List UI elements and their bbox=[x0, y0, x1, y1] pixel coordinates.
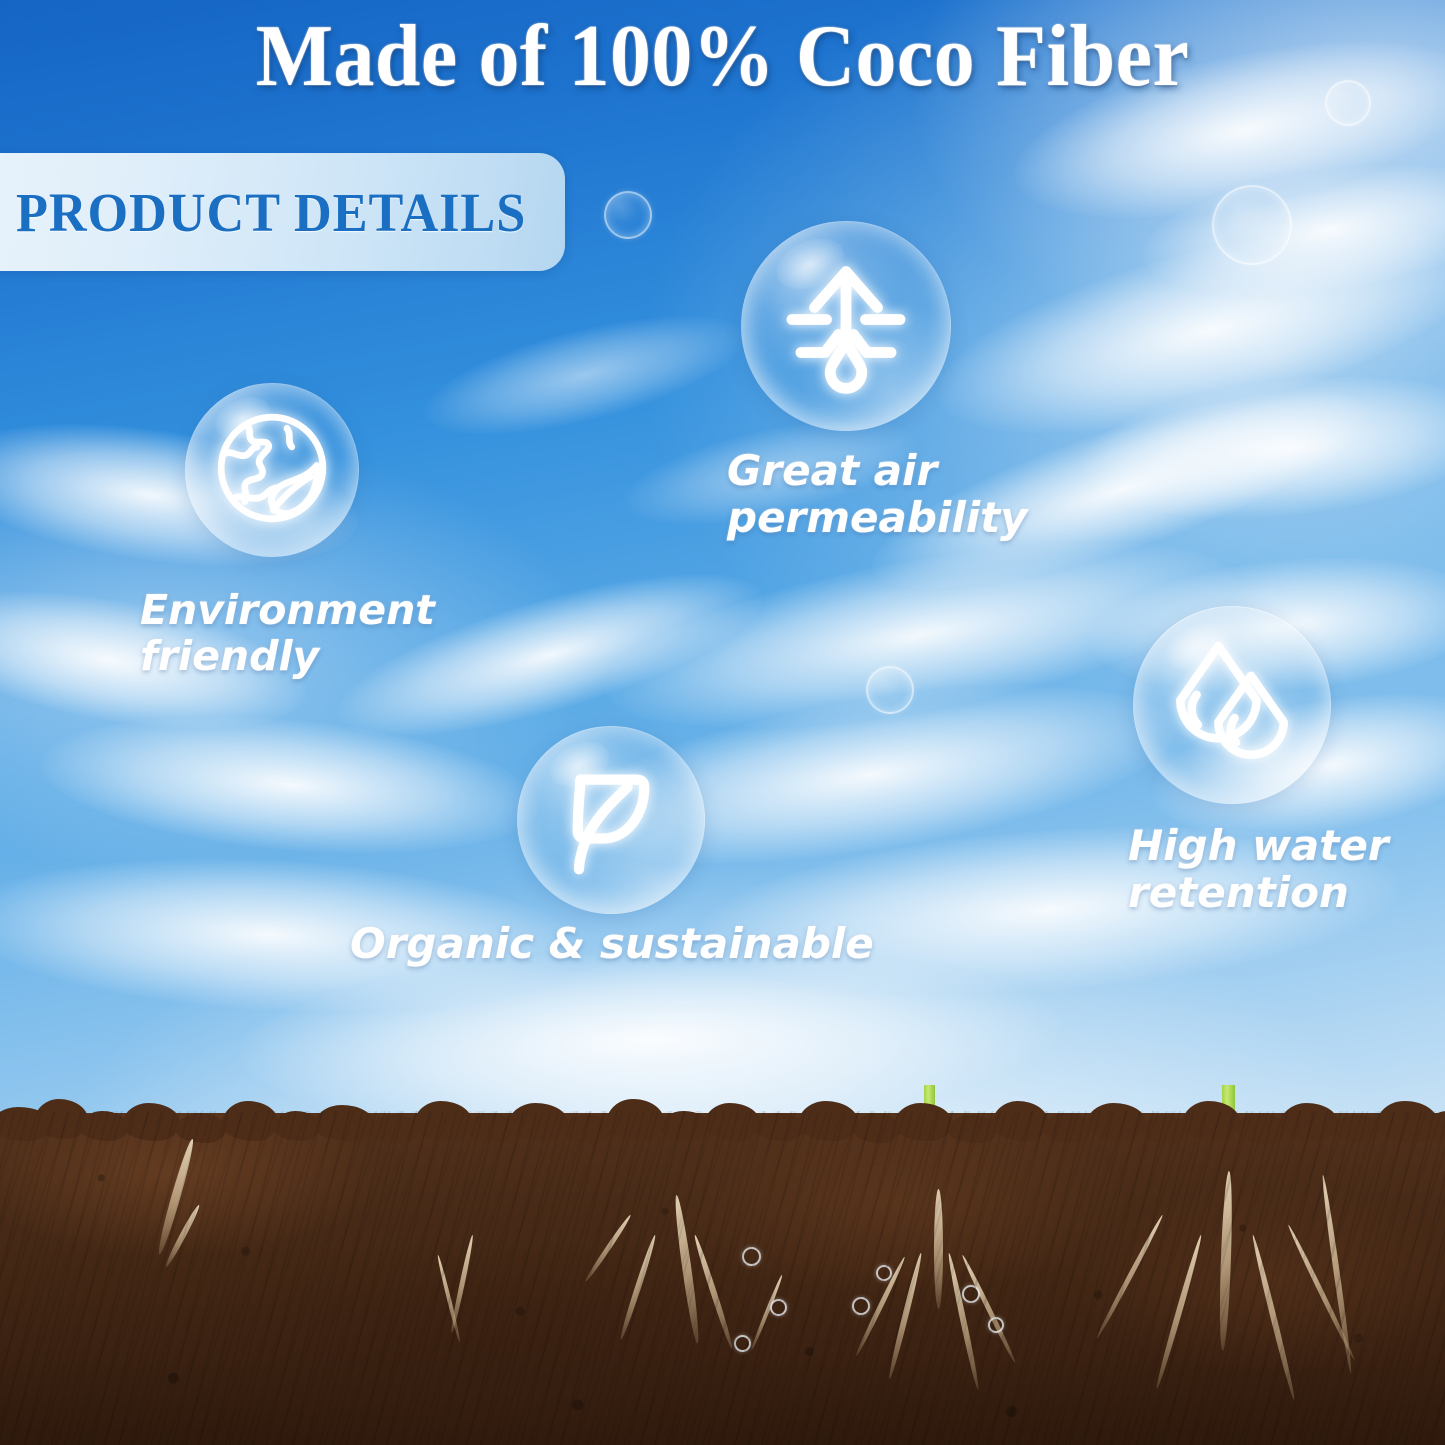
leaf-icon bbox=[547, 754, 675, 887]
feature-label-great-air-permeability: Great air permeability bbox=[727, 447, 1057, 541]
feature-label-organic-sustainable: Organic & sustainable bbox=[350, 920, 910, 967]
small-bubble bbox=[604, 191, 652, 239]
soil-air-bubble bbox=[962, 1285, 980, 1303]
soil-air-bubble bbox=[734, 1335, 751, 1352]
plant-root bbox=[934, 1189, 943, 1309]
soil-surface-edge bbox=[0, 1097, 1445, 1157]
product-details-badge-label: PRODUCT DETAILS bbox=[16, 181, 526, 244]
globe-leaf-icon bbox=[210, 406, 334, 535]
soil-air-bubble bbox=[852, 1297, 870, 1315]
feature-bubble bbox=[185, 383, 359, 557]
feature-bubble bbox=[517, 726, 705, 914]
feature-label-environment-friendly: Environment friendly bbox=[140, 588, 440, 680]
soil-air-bubble bbox=[988, 1317, 1004, 1333]
small-bubble bbox=[866, 666, 914, 714]
feature-label-high-water-retention: High water retention bbox=[1128, 822, 1445, 916]
small-bubble bbox=[1325, 80, 1371, 126]
soil-cross-section bbox=[0, 1085, 1445, 1445]
product-detail-banner: Made of 100% Coco Fiber PRODUCT DETAILS bbox=[0, 0, 1445, 1445]
soil-air-bubble bbox=[742, 1247, 761, 1266]
feature-bubble bbox=[741, 221, 951, 431]
air-permeability-icon bbox=[771, 249, 921, 404]
soil-air-bubble bbox=[876, 1265, 892, 1281]
page-title: Made of 100% Coco Fiber bbox=[51, 6, 1395, 107]
feature-bubble bbox=[1133, 606, 1331, 804]
water-droplets-icon bbox=[1164, 635, 1300, 776]
product-details-badge[interactable]: PRODUCT DETAILS bbox=[0, 153, 565, 271]
soil-air-bubble bbox=[770, 1299, 787, 1316]
small-bubble bbox=[1212, 185, 1292, 265]
